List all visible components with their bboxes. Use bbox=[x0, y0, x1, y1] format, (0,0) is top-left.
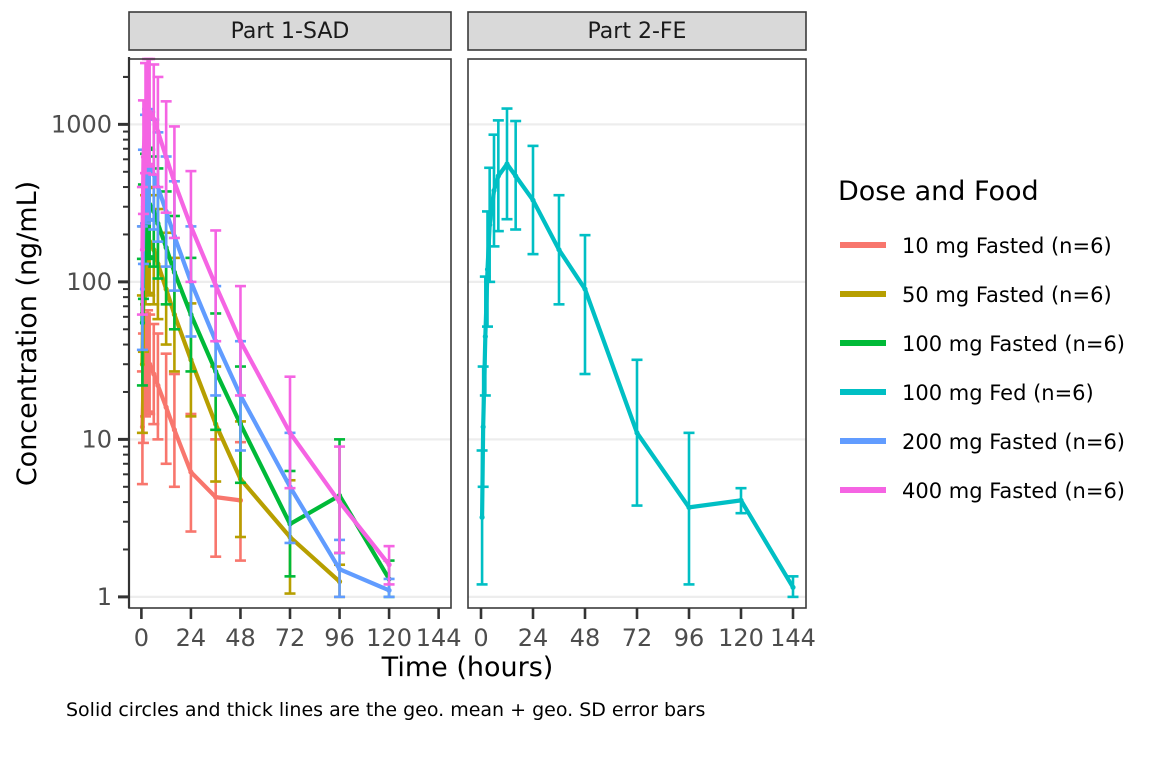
mean-point bbox=[155, 383, 160, 388]
y-tick-label-1: 1 bbox=[97, 583, 112, 611]
x-tick-label-72: 72 bbox=[622, 624, 653, 652]
legend-item-5[interactable]: 400 mg Fasted (n=6) bbox=[838, 471, 1125, 505]
y-tick-label-10: 10 bbox=[81, 425, 112, 453]
mean-point bbox=[487, 222, 492, 227]
mean-point bbox=[151, 371, 156, 376]
mean-point bbox=[738, 498, 743, 503]
mean-point bbox=[496, 173, 501, 178]
mean-point bbox=[172, 427, 177, 432]
y-axis-title: Concentration (ng/mL) bbox=[12, 181, 43, 486]
x-tick-label-0: 0 bbox=[473, 624, 488, 652]
mean-point bbox=[790, 585, 795, 590]
mean-point bbox=[479, 515, 484, 520]
mean-point bbox=[164, 405, 169, 410]
legend-item-3[interactable]: 100 mg Fed (n=6) bbox=[838, 373, 1094, 407]
legend-item-label: 100 mg Fed (n=6) bbox=[902, 381, 1094, 405]
mean-point bbox=[147, 362, 152, 367]
legend-item-4[interactable]: 200 mg Fasted (n=6) bbox=[838, 422, 1125, 456]
legend-title: Dose and Food bbox=[838, 176, 1039, 207]
x-tick-label-48: 48 bbox=[225, 624, 256, 652]
x-tick-label-24: 24 bbox=[176, 624, 207, 652]
x-tick-label-48: 48 bbox=[570, 624, 601, 652]
mean-point bbox=[513, 173, 518, 178]
x-tick-label-120: 120 bbox=[366, 624, 412, 652]
legend-item-label: 10 mg Fasted (n=6) bbox=[902, 234, 1112, 258]
plot-caption: Solid circles and thick lines are the ge… bbox=[66, 699, 705, 721]
mean-point bbox=[504, 161, 509, 166]
mean-point bbox=[686, 505, 691, 510]
x-tick-label-144: 144 bbox=[770, 624, 816, 652]
legend-item-label: 50 mg Fasted (n=6) bbox=[902, 283, 1112, 307]
legend-item-2[interactable]: 100 mg Fasted (n=6) bbox=[838, 324, 1125, 358]
mean-point bbox=[155, 129, 160, 134]
x-tick-label-120: 120 bbox=[718, 624, 764, 652]
pk-concentration-time-plot: 1101001000024487296120144024487296120144… bbox=[0, 0, 1152, 768]
y-tick-label-100: 100 bbox=[66, 268, 112, 296]
mean-point bbox=[634, 430, 639, 435]
mean-point bbox=[556, 247, 561, 252]
legend-item-label: 400 mg Fasted (n=6) bbox=[902, 479, 1125, 503]
x-tick-label-144: 144 bbox=[416, 624, 462, 652]
mean-point bbox=[147, 109, 152, 114]
mean-point bbox=[582, 286, 587, 291]
mean-point bbox=[238, 339, 243, 344]
strip-label-part-2-fe: Part 2-FE bbox=[588, 19, 687, 44]
mean-point bbox=[530, 198, 535, 203]
chart-root: 1101001000024487296120144024487296120144… bbox=[0, 0, 1152, 768]
mean-point bbox=[491, 188, 496, 193]
mean-point bbox=[213, 495, 218, 500]
strip-layer: Part 1-SADPart 2-FE bbox=[129, 12, 806, 50]
mean-point bbox=[213, 283, 218, 288]
mean-point bbox=[145, 357, 150, 362]
mean-point bbox=[143, 115, 148, 120]
mean-point bbox=[140, 247, 145, 252]
mean-point bbox=[386, 588, 391, 593]
legend-item-label: 100 mg Fasted (n=6) bbox=[902, 332, 1125, 356]
x-tick-label-0: 0 bbox=[134, 624, 149, 652]
x-axis-title: Time (hours) bbox=[381, 652, 554, 683]
mean-point bbox=[485, 267, 490, 272]
mean-point bbox=[188, 469, 193, 474]
x-tick-label-96: 96 bbox=[324, 624, 355, 652]
y-tick-label-1000: 1000 bbox=[51, 110, 112, 138]
legend-item-label: 200 mg Fasted (n=6) bbox=[902, 430, 1125, 454]
legend-item-0[interactable]: 10 mg Fasted (n=6) bbox=[838, 226, 1112, 260]
legend-item-1[interactable]: 50 mg Fasted (n=6) bbox=[838, 275, 1112, 309]
x-tick-label-72: 72 bbox=[275, 624, 306, 652]
mean-point bbox=[172, 179, 177, 184]
strip-label-part-1-sad: Part 1-SAD bbox=[231, 19, 350, 44]
mean-point bbox=[337, 499, 342, 504]
mean-point bbox=[188, 224, 193, 229]
mean-point bbox=[287, 430, 292, 435]
x-tick-label-96: 96 bbox=[674, 624, 705, 652]
mean-point bbox=[141, 154, 146, 159]
mean-point bbox=[483, 334, 488, 339]
mean-point bbox=[164, 154, 169, 159]
mean-point bbox=[386, 562, 391, 567]
x-tick-label-24: 24 bbox=[518, 624, 549, 652]
mean-point bbox=[481, 424, 486, 429]
mean-point bbox=[151, 116, 156, 121]
mean-point bbox=[337, 567, 342, 572]
